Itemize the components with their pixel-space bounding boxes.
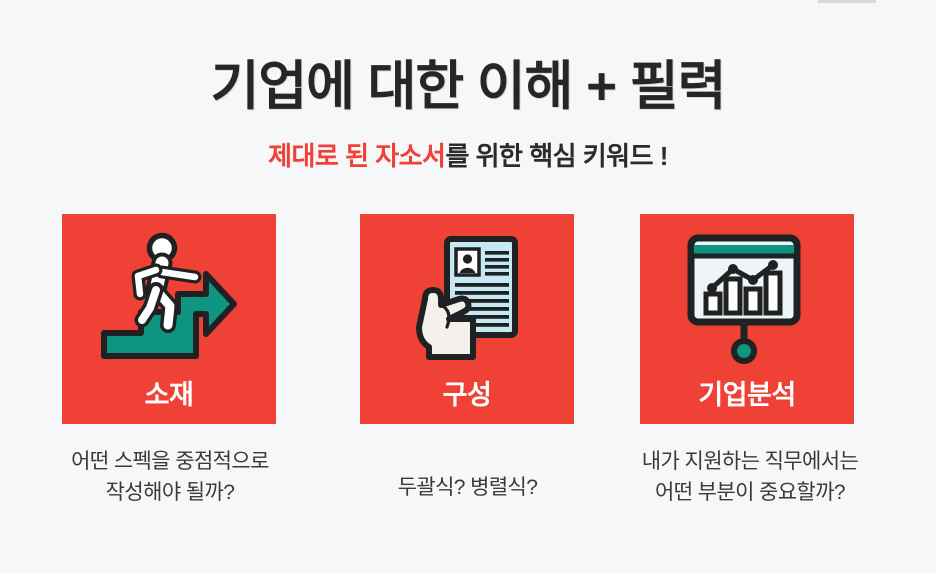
card-label-sojae: 소재 bbox=[62, 378, 276, 412]
card-gieopbunseok[interactable]: 기업분석 bbox=[640, 214, 854, 424]
page-subtitle: 제대로 된 자소서를 위한 핵심 키워드 ! bbox=[0, 139, 936, 173]
card-sojae[interactable]: 소재 bbox=[62, 214, 276, 424]
caption-line: 두괄식? 병렬식? bbox=[345, 472, 590, 503]
caption-line: 작성해야 될까? bbox=[15, 477, 325, 508]
card-guseong[interactable]: 구성 bbox=[360, 214, 574, 424]
caption-line: 내가 지원하는 직무에서는 bbox=[585, 446, 915, 477]
hand-holding-resume-icon bbox=[360, 230, 574, 370]
infographic-page: 기업에 대한 이해 + 필력 제대로 된 자소서를 위한 핵심 키워드 ! bbox=[0, 0, 936, 573]
caption-line: 어떤 부분이 중요할까? bbox=[585, 477, 915, 508]
card-label-guseong: 구성 bbox=[360, 378, 574, 412]
person-climbing-stairs-arrow-icon bbox=[62, 230, 276, 370]
top-right-marker-bar bbox=[818, 0, 876, 3]
caption-guseong: 두괄식? 병렬식? bbox=[345, 472, 590, 503]
page-title: 기업에 대한 이해 + 필력 bbox=[0, 56, 936, 118]
card-label-gieopbunseok: 기업분석 bbox=[640, 378, 854, 412]
caption-line: 어떤 스펙을 중점적으로 bbox=[15, 446, 325, 477]
caption-sojae: 어떤 스펙을 중점적으로 작성해야 될까? bbox=[15, 446, 325, 508]
subtitle-tail-text: 를 위한 핵심 키워드 ! bbox=[445, 141, 667, 171]
presentation-chart-board-icon bbox=[640, 230, 854, 370]
subtitle-accent-text: 제대로 된 자소서 bbox=[268, 141, 445, 171]
caption-row: 어떤 스펙을 중점적으로 작성해야 될까? 두괄식? 병렬식? 내가 지원하는 … bbox=[0, 446, 936, 536]
card-row: 소재 bbox=[0, 214, 936, 426]
caption-gieopbunseok: 내가 지원하는 직무에서는 어떤 부분이 중요할까? bbox=[585, 446, 915, 508]
